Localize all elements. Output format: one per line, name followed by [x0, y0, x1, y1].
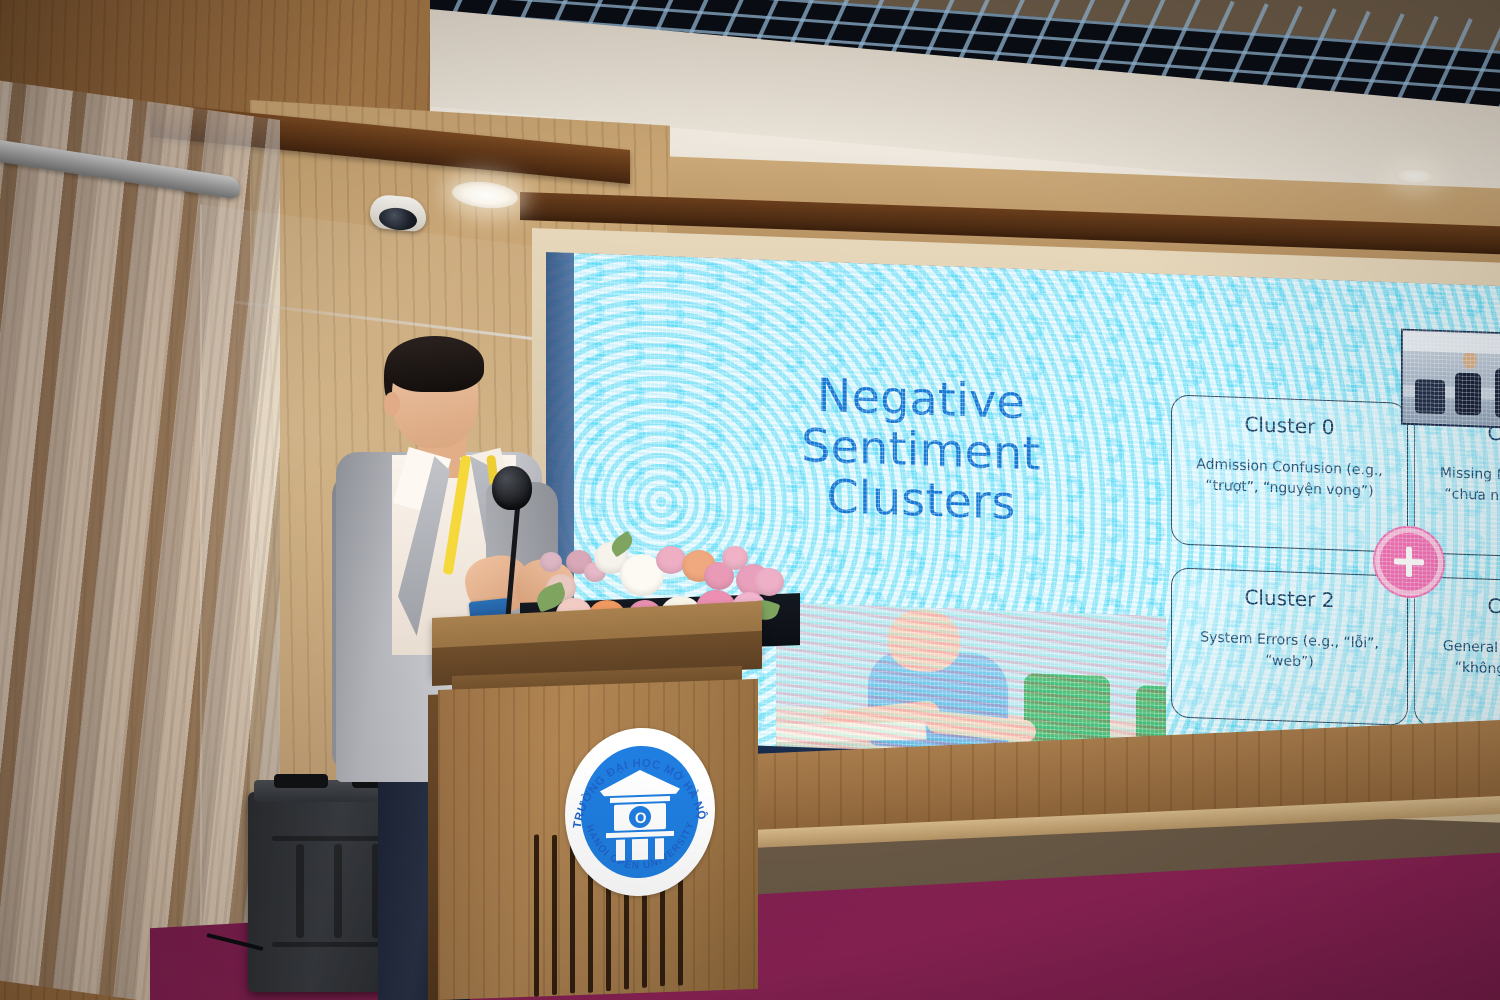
slide-title: Negative Sentiment Clusters	[771, 368, 1071, 531]
cluster-card-3[interactable]: Cluster 3 General Complaints (e.g., “khô…	[1414, 576, 1500, 734]
cluster-card-title: Cluster 2	[1172, 582, 1407, 614]
speaker-ear	[384, 392, 400, 416]
cluster-card-2[interactable]: Cluster 2 System Errors (e.g., “lỗi”, “w…	[1171, 567, 1408, 725]
microphone-icon	[492, 466, 532, 510]
pavilion-emblem-icon: HOU	[592, 766, 688, 861]
logo-monogram: HOU	[618, 809, 669, 828]
speaker-hair	[386, 336, 484, 392]
cluster-card-description: Admission Confusion (e.g., “trượt”, “ngu…	[1182, 454, 1397, 504]
university-logo: TRƯỜNG ĐẠI HỌC MỞ HÀ NỘI HANOI OPEN UNIV…	[565, 725, 715, 898]
conference-hall-photo: Negative Sentiment Clusters Cluster 0 Ad…	[0, 0, 1500, 1000]
cluster-card-title: Cluster 3	[1415, 591, 1500, 623]
cluster-card-description: System Errors (e.g., “lỗi”, “web”)	[1182, 627, 1397, 677]
pip-camera-feed	[1401, 329, 1500, 431]
cluster-card-0[interactable]: Cluster 0 Admission Confusion (e.g., “tr…	[1171, 394, 1408, 552]
slide-title-line: Sentiment	[771, 419, 1071, 480]
cluster-card-description: Missing Notifications (e.g., “chưa nhận”…	[1425, 462, 1500, 512]
cluster-card-title: Cluster 0	[1172, 409, 1407, 441]
cluster-card-description: General Complaints (e.g., “không thấy”, …	[1425, 635, 1500, 685]
